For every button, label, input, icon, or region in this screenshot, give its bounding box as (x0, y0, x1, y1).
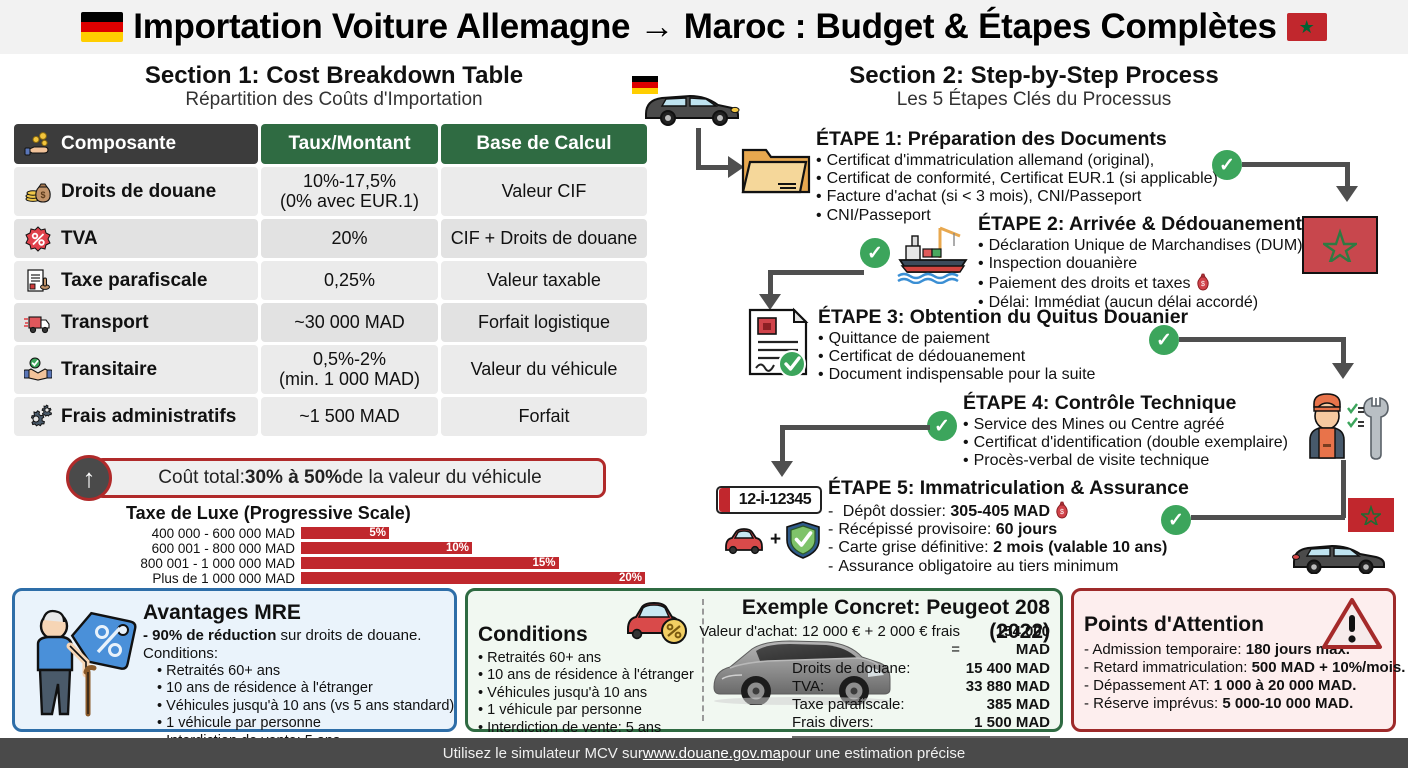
step-item: Inspection douanière (978, 255, 1303, 273)
check-icon-step1: ✓ (1212, 150, 1242, 180)
panel-avantages-mre: Avantages MRE - 90% de réduction sur dro… (12, 588, 457, 732)
step-item: Quittance de paiement (818, 330, 1188, 348)
example-row-label: TVA: (792, 678, 824, 696)
column-header-label: Taux/Montant (288, 133, 410, 155)
luxury-tax-chart: Taxe de Luxe (Progressive Scale) 400 000… (126, 503, 646, 586)
step-4-heading: ÉTAPE 4: Contrôle Technique (963, 392, 1288, 415)
step-5-list: Dépôt dossier: 305-405 MAD $ Récépissé p… (828, 501, 1189, 576)
row-base-label: CIF + Droits de douane (451, 229, 638, 248)
step-item: Certificat de dédouanement (818, 348, 1188, 366)
step-3-heading: ÉTAPE 3: Obtention du Quitus Douanier (818, 306, 1188, 329)
step-item: Procès-verbal de visite technique (963, 452, 1288, 470)
step-item: Dépôt dossier: 305-405 MAD $ (828, 501, 1189, 521)
chart-bar-track: 15% (300, 556, 646, 570)
truck-icon (24, 309, 52, 337)
row-rate: 0,25% (261, 261, 438, 300)
row-component-label: Taxe parafiscale (61, 270, 207, 292)
section-1-title: Section 1: Cost Breakdown Table (0, 62, 668, 90)
chart-category-label: Plus de 1 000 000 MAD (126, 571, 300, 586)
example-row-label: Droits de douane: (792, 660, 910, 678)
mre-item: • Véhicules jusqu'à 10 ans (vs 5 ans sta… (143, 698, 454, 715)
row-component: TVA (14, 219, 258, 258)
step-2: ÉTAPE 2: Arrivée & Dédouanement Déclarat… (978, 213, 1303, 312)
example-row: Taxe parafiscale:385 MAD (792, 696, 1050, 714)
table-row: Transport ~30 000 MAD Forfait logistique (14, 303, 650, 342)
table-row: $ Droits de douane 10%-17,5% (0% avec EU… (14, 167, 650, 216)
section-1-subtitle: Répartition des Coûts d'Importation (0, 89, 668, 111)
table-header-row: Composante Taux/Montant Base de Calcul (14, 124, 650, 164)
step-item: Assurance obligatoire au tiers minimum (828, 558, 1189, 576)
example-row-value: 15 400 MAD (966, 660, 1050, 678)
row-base: Forfait (441, 397, 647, 436)
table-header-component: Composante (14, 124, 258, 164)
car-percent-icon (622, 597, 692, 647)
row-rate: ~1 500 MAD (261, 397, 438, 436)
chart-category-label: 600 001 - 800 000 MAD (126, 541, 300, 556)
license-plate-icon[interactable]: 12-İ-12345 (716, 486, 822, 514)
step5-fee: 305-405 MAD (950, 503, 1050, 520)
total-cost-prefix: Coût total: (158, 467, 245, 489)
table-header-base: Base de Calcul (441, 124, 647, 164)
certificate-icon (744, 306, 814, 378)
row-base: Valeur taxable (441, 261, 647, 300)
chart-bar-row: 800 001 - 1 000 000 MAD 15% (126, 556, 646, 570)
row-base-label: Forfait logistique (478, 313, 610, 332)
row-rate: 20% (261, 219, 438, 258)
mre-lead-bold: - 90% de réduction (143, 627, 276, 644)
chart-category-label: 400 000 - 600 000 MAD (126, 526, 300, 541)
step-item: Certificat d'immatriculation allemand (o… (816, 152, 1218, 170)
row-base-label: Valeur du véhicule (471, 360, 618, 379)
plus-sign: + (770, 529, 781, 551)
page-footer: Utilisez le simulateur MCV sur www.douan… (0, 738, 1408, 768)
step5-card: 2 mois (valable 10 ans) (993, 539, 1167, 556)
panel-conditions-example: Conditions • Retraités 60+ ans • 10 ans … (465, 588, 1063, 732)
row-base: Forfait logistique (441, 303, 647, 342)
row-base: Valeur CIF (441, 167, 647, 216)
panel-mre-title: Avantages MRE (143, 601, 454, 625)
chart-bar-value: 10% (300, 541, 473, 555)
chart-bar-row: Plus de 1 000 000 MAD 20% (126, 571, 646, 585)
cargo-ship-icon (896, 222, 974, 284)
footer-link[interactable]: www.douane.gov.ma (643, 745, 781, 762)
mre-item: • Retraités 60+ ans (143, 663, 454, 680)
row-rate-line2: (min. 1 000 MAD) (279, 369, 420, 389)
example-purchase-value: 154 000 MAD (960, 623, 1050, 660)
step-item: Paiement des droits et taxes $ (978, 273, 1303, 293)
step-3: ÉTAPE 3: Obtention du Quitus Douanier Qu… (818, 306, 1188, 385)
step-3-list: Quittance de paiement Certificat de dédo… (818, 330, 1188, 385)
chart-bar-row: 400 000 - 600 000 MAD 5% (126, 526, 646, 540)
footer-suffix: pour une estimation précise (781, 745, 965, 762)
row-base-label: Forfait (518, 407, 569, 426)
row-base: CIF + Droits de douane (441, 219, 647, 258)
step-5-heading: ÉTAPE 5: Immatriculation & Assurance (828, 477, 1189, 500)
morocco-flag-block-icon (1302, 216, 1378, 274)
total-cost-suffix: de la valeur du véhicule (342, 467, 542, 489)
step-4-list: Service des Mines ou Centre agréé Certif… (963, 416, 1288, 471)
car-plus-shield-icons: + (722, 520, 821, 560)
table-row: Transitaire 0,5%-2% (min. 1 000 MAD) Val… (14, 345, 650, 394)
step5-receipt: 60 jours (996, 521, 1057, 538)
example-row-value: 33 880 MAD (966, 678, 1050, 696)
check-icon-step3: ✓ (1149, 325, 1179, 355)
step-5: ÉTAPE 5: Immatriculation & Assurance Dép… (828, 477, 1189, 576)
money-hand-icon (24, 130, 52, 158)
row-component: Transitaire (14, 345, 258, 394)
row-rate-label: ~30 000 MAD (294, 313, 405, 332)
row-rate-label: 0,25% (324, 271, 375, 290)
chart-bar-value: 15% (300, 556, 560, 570)
row-base: Valeur du véhicule (441, 345, 647, 394)
step-2-list: Déclaration Unique de Marchandises (DUM)… (978, 237, 1303, 312)
example-purchase-row: Valeur d'achat: 12 000 € + 2 000 € frais… (694, 623, 1050, 660)
section-2-title: Section 2: Step-by-Step Process (660, 56, 1408, 90)
row-component: Transport (14, 303, 258, 342)
step-item: Déclaration Unique de Marchandises (DUM) (978, 237, 1303, 255)
svg-text:$: $ (1201, 281, 1205, 288)
svg-text:$: $ (40, 190, 45, 200)
money-bag-small-icon: $ (1054, 501, 1070, 519)
row-base-label: Valeur CIF (502, 182, 587, 201)
document-stamp-icon (24, 267, 52, 295)
mre-conditions-label: Conditions: (143, 645, 454, 663)
conditions-item: • Retraités 60+ ans (478, 650, 694, 667)
chart-bar-track: 20% (300, 571, 646, 585)
chart-bar-track: 5% (300, 526, 646, 540)
row-component-label: Droits de douane (61, 181, 216, 203)
step-item: Récépissé provisoire: 60 jours (828, 521, 1189, 539)
moroccan-car-icon (1286, 526, 1392, 574)
license-plate-number: 12-İ-12345 (730, 491, 820, 509)
folder-icon (740, 140, 812, 198)
footer-prefix: Utilisez le simulateur MCV sur (443, 745, 643, 762)
table-header-rate: Taux/Montant (261, 124, 438, 164)
panel-points-attention: Points d'Attention - Admission temporair… (1071, 588, 1396, 732)
chart-title: Taxe de Luxe (Progressive Scale) (126, 503, 646, 524)
table-row: Taxe parafiscale 0,25% Valeur taxable (14, 261, 650, 300)
row-rate-line1: 10%-17,5% (303, 171, 396, 191)
warning-item: - Retard immatriculation: 500 MAD + 10%/… (1084, 659, 1383, 677)
table-row: TVA 20% CIF + Droits de douane (14, 219, 650, 258)
chart-category-label: 800 001 - 1 000 000 MAD (126, 556, 300, 571)
row-rate: ~30 000 MAD (261, 303, 438, 342)
example-row-label: Frais divers: (792, 714, 874, 732)
row-component: Frais administratifs (14, 397, 258, 436)
example-purchase-label: Valeur d'achat: 12 000 € + 2 000 € frais… (694, 623, 960, 660)
up-arrow-icon: ↑ (66, 455, 112, 501)
mre-lead-rest: sur droits de douane. (276, 627, 421, 644)
column-header-label: Composante (61, 133, 176, 155)
step-item: Carte grise définitive: 2 mois (valable … (828, 539, 1189, 557)
step-item: Facture d'achat (si < 3 mois), CNI/Passe… (816, 188, 1218, 206)
total-cost-text: Coût total: 30% à 50% de la valeur du vé… (94, 458, 606, 498)
conditions-item: • Interdiction de vente: 5 ans (478, 720, 694, 737)
warning-triangle-icon (1321, 597, 1383, 651)
step-item: Certificat d'identification (double exem… (963, 434, 1288, 452)
conditions-item: • Véhicules jusqu'à 10 ans (478, 685, 694, 702)
chart-bar-row: 600 001 - 800 000 MAD 10% (126, 541, 646, 555)
step-1: ÉTAPE 1: Préparation des Documents Certi… (816, 128, 1218, 225)
handshake-check-icon (24, 356, 52, 384)
warning-item: - Réserve imprévus: 5 000-10 000 MAD. (1084, 695, 1383, 713)
chart-bar-value: 5% (300, 526, 390, 540)
step-item: Document indispensable pour la suite (818, 366, 1188, 384)
money-bag-icon: $ (24, 178, 52, 206)
total-cost-banner: Coût total: 30% à 50% de la valeur du vé… (66, 455, 606, 501)
cost-breakdown-table: Composante Taux/Montant Base de Calcul (14, 124, 650, 439)
warning-item: - Dépassement AT: 1 000 à 20 000 MAD. (1084, 677, 1383, 695)
mre-item: • 10 ans de résidence à l'étranger (143, 680, 454, 697)
check-icon-step5: ✓ (1161, 505, 1191, 535)
row-component: Taxe parafiscale (14, 261, 258, 300)
money-bag-small-icon: $ (1195, 273, 1211, 291)
example-row: TVA:33 880 MAD (792, 678, 1050, 696)
german-car-icon (628, 74, 744, 126)
mre-item: • 1 véhicule par personne (143, 715, 454, 732)
elderly-discount-icon (23, 597, 143, 723)
conditions-item: • 10 ans de résidence à l'étranger (478, 667, 694, 684)
gears-icon (24, 403, 52, 431)
example-row: Frais divers:1 500 MAD (792, 714, 1050, 732)
total-cost-emphasis: 30% à 50% (245, 467, 342, 489)
example-row-label: Taxe parafiscale: (792, 696, 905, 714)
chart-bar-track: 10% (300, 541, 646, 555)
page-header: Importation Voiture Allemagne → Maroc : … (0, 0, 1408, 54)
check-icon-step2: ✓ (860, 238, 890, 268)
row-component-label: Transport (61, 312, 149, 334)
row-rate: 10%-17,5% (0% avec EUR.1) (261, 167, 438, 216)
conditions-item: • 1 véhicule par personne (478, 702, 694, 719)
germany-flag-icon (81, 12, 123, 42)
row-rate-label: ~1 500 MAD (299, 407, 400, 426)
step-2-heading: ÉTAPE 2: Arrivée & Dédouanement (978, 213, 1303, 236)
percent-badge-icon (24, 225, 52, 253)
row-rate: 0,5%-2% (min. 1 000 MAD) (261, 345, 438, 394)
step-1-heading: ÉTAPE 1: Préparation des Documents (816, 128, 1218, 151)
step-item: Certificat de conformité, Certificat EUR… (816, 170, 1218, 188)
shield-check-icon (785, 520, 821, 560)
page-title: Importation Voiture Allemagne → Maroc : … (133, 7, 1276, 47)
red-car-icon (722, 525, 766, 555)
example-row: Droits de douane:15 400 MAD (792, 660, 1050, 678)
row-component-label: Frais administratifs (61, 406, 236, 428)
step-4: ÉTAPE 4: Contrôle Technique Service des … (963, 392, 1288, 471)
column-header-label: Base de Calcul (476, 133, 611, 155)
example-row-value: 1 500 MAD (974, 714, 1050, 732)
row-component-label: TVA (61, 228, 98, 250)
section-2-subtitle: Les 5 Étapes Clés du Processus (660, 89, 1408, 111)
row-rate-line2: (0% avec EUR.1) (280, 191, 419, 211)
step-item: Service des Mines ou Centre agréé (963, 416, 1288, 434)
row-rate-line1: 0,5%-2% (313, 349, 386, 369)
svg-text:$: $ (1061, 509, 1065, 516)
row-component: $ Droits de douane (14, 167, 258, 216)
chart-bar-value: 20% (300, 571, 646, 585)
infographic-page: Importation Voiture Allemagne → Maroc : … (0, 0, 1408, 768)
table-row: Frais administratifs ~1 500 MAD Forfait (14, 397, 650, 436)
check-icon-step4: ✓ (927, 411, 957, 441)
morocco-flag-icon: ★ (1287, 13, 1327, 41)
row-base-label: Valeur taxable (487, 271, 601, 290)
row-component-label: Transitaire (61, 359, 157, 381)
row-rate-label: 20% (331, 229, 367, 248)
example-row-value: 385 MAD (987, 696, 1050, 714)
mechanic-wrench-icon (1300, 388, 1392, 460)
